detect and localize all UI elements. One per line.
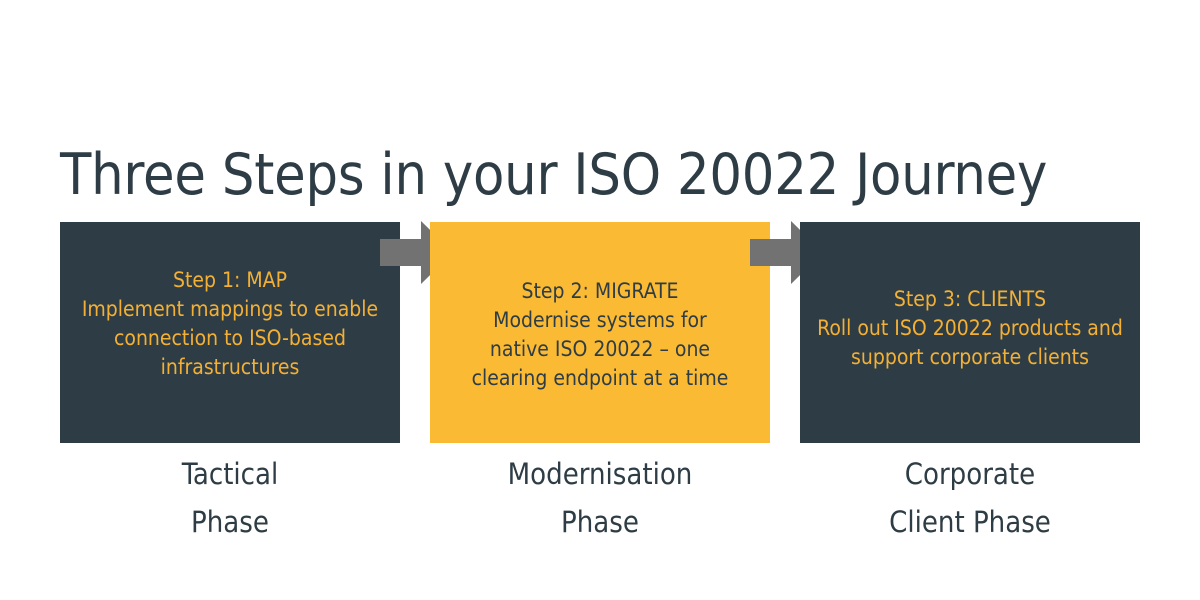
- slide-canvas: Three Steps in your ISO 20022 Journey St…: [0, 0, 1200, 600]
- step-box-1-text: Step 1: MAP Implement mappings to enable…: [82, 266, 378, 382]
- step-box-2-text: Step 2: MIGRATE Modernise systems for na…: [472, 277, 729, 393]
- step-box-2[interactable]: Step 2: MIGRATE Modernise systems for na…: [430, 222, 770, 443]
- phase-caption-2: Modernisation Phase: [430, 450, 770, 546]
- step-box-1[interactable]: Step 1: MAP Implement mappings to enable…: [60, 222, 400, 443]
- step-box-3-text: Step 3: CLIENTS Roll out ISO 20022 produ…: [817, 285, 1123, 372]
- phase-caption-3: Corporate Client Phase: [800, 450, 1140, 546]
- step-box-3[interactable]: Step 3: CLIENTS Roll out ISO 20022 produ…: [800, 222, 1140, 443]
- phase-caption-1: Tactical Phase: [60, 450, 400, 546]
- page-title: Three Steps in your ISO 20022 Journey: [60, 141, 1150, 209]
